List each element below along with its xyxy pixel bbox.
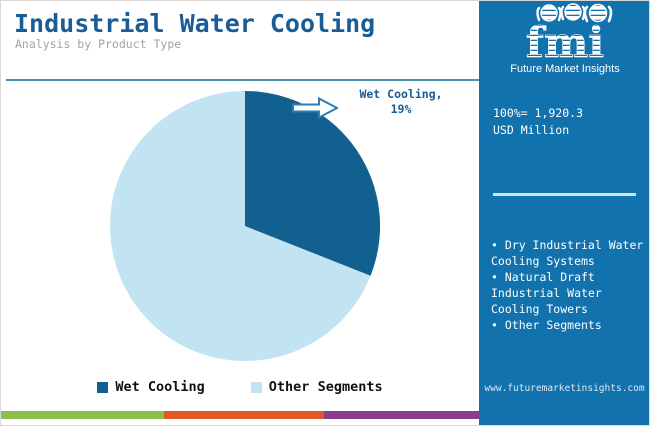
header: Industrial Water Cooling Analysis by Pro… — [1, 1, 479, 80]
legend-swatch-icon — [251, 382, 262, 393]
callout-label-line2: 19% — [331, 102, 471, 117]
svg-text:fmi: fmi — [525, 18, 603, 67]
fmi-logo-icon: fmi Future Market Insights — [490, 1, 640, 79]
panel-total-line1: 100%= 1,920.3 — [493, 105, 643, 122]
page-title: Industrial Water Cooling — [14, 9, 375, 38]
page-subtitle: Analysis by Product Type — [15, 37, 181, 51]
bar-segment-orange — [164, 411, 324, 419]
side-panel: fmi Future Market Insights 100%= 1,920.3… — [479, 1, 650, 426]
legend-item-label: Wet Cooling — [115, 379, 204, 395]
panel-total-line2: USD Million — [493, 122, 643, 139]
svg-text:Future Market Insights: Future Market Insights — [510, 63, 620, 75]
list-item: • Dry Industrial Water Cooling Systems — [491, 237, 647, 269]
panel-segment-list: • Dry Industrial Water Cooling Systems •… — [491, 237, 647, 333]
chart-area: Wet Cooling, 19% Wet Cooling Other Segme… — [1, 81, 479, 411]
infographic-page: Industrial Water Cooling Analysis by Pro… — [0, 0, 650, 426]
pie-chart-svg — [110, 91, 380, 361]
legend-item-other-segments[interactable]: Other Segments — [251, 379, 383, 395]
bar-segment-purple — [324, 411, 479, 419]
legend-swatch-icon — [97, 382, 108, 393]
legend: Wet Cooling Other Segments — [1, 379, 479, 395]
bottom-color-bar — [1, 411, 650, 419]
panel-divider — [493, 193, 636, 196]
website-url[interactable]: www.futuremarketinsights.com — [479, 383, 650, 395]
bar-segment-blue — [479, 411, 650, 419]
panel-total-value: 100%= 1,920.3 USD Million — [493, 105, 643, 139]
callout-label: Wet Cooling, 19% — [331, 87, 471, 117]
legend-item-label: Other Segments — [269, 379, 383, 395]
pie-chart — [110, 91, 380, 361]
legend-item-wet-cooling[interactable]: Wet Cooling — [97, 379, 204, 395]
list-item: • Other Segments — [491, 317, 647, 333]
callout-label-line1: Wet Cooling, — [331, 87, 471, 102]
bar-segment-green — [1, 411, 164, 419]
list-item: • Natural Draft Industrial Water Cooling… — [491, 269, 647, 317]
fmi-logo[interactable]: fmi Future Market Insights — [479, 1, 650, 81]
